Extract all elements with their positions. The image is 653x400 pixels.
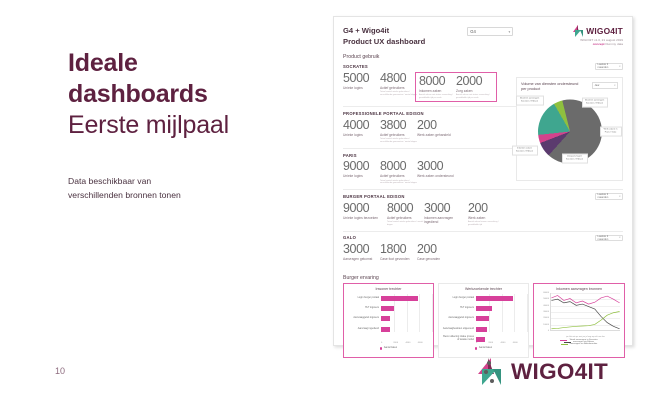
- kpi-caption: Actief gebruikers: [380, 86, 417, 90]
- kpi-period-value: Laatste 3 maanden: [598, 235, 620, 241]
- chevron-down-icon: ▾: [619, 65, 620, 68]
- kpi-footnote: Totaal aantal unieke gebruikers / versch…: [380, 180, 417, 185]
- kpi-value: 1800: [380, 243, 417, 256]
- y-tick-label: 30000: [537, 311, 549, 313]
- kpi-caption: Aanvragen gekomst: [343, 257, 380, 261]
- slide-text-block: Ideale dashboards Eerste mijlpaal Data b…: [68, 48, 308, 202]
- kpi-caption: Unieke logins: [343, 86, 380, 90]
- kpi-metric: 3000Inkomen aanvragen ingediend: [424, 202, 468, 227]
- highlighted-kpi-box: 8000Inkomen zakenAantal zaken met status…: [415, 72, 497, 103]
- gridline: [432, 294, 433, 332]
- legend-line-swatch: [560, 340, 567, 341]
- kpi-metric: 8000Actief gebruikersTotaal aantal uniek…: [380, 160, 417, 185]
- bar-fill: [381, 316, 390, 321]
- bar-category-label: Aanvraag ingediend: [347, 328, 381, 331]
- chart-title: Werkzoekende trechter: [442, 287, 525, 291]
- kpi-group-header: BURGER PORTAAL EDISONLaatste 3 maanden▾: [343, 193, 623, 200]
- bar-row: Aanvraaggeluit logovers: [347, 314, 430, 323]
- x-tick-label: 0: [381, 342, 393, 344]
- kpi-value: 8000: [380, 160, 417, 173]
- kpi-footnote: Totaal aantal unieke gebruikers / versch…: [380, 91, 417, 96]
- legend-swatch: [380, 347, 383, 350]
- kpi-value: 200: [417, 243, 454, 256]
- dashboard-panel: G4 + Wigo4it Product UX dashboard G4 ▾ W…: [333, 16, 633, 346]
- bar-row: HvT logovers: [347, 304, 430, 313]
- kpi-group-label: PARIS: [343, 153, 357, 158]
- kpi-value: 200: [417, 119, 461, 132]
- bar-row: HvT logovers: [442, 304, 525, 313]
- bar-track: [381, 306, 430, 311]
- kpi-metric: 200Case gevonden: [417, 243, 454, 261]
- bar-chart-plot: Login burger portaalHvT logoversAanvraag…: [347, 294, 430, 341]
- y-tick-label: 40000: [537, 305, 549, 307]
- bar-track: [381, 327, 430, 332]
- kpi-group: GALOLaatste 3 maanden▾3000Aanvragen geko…: [343, 235, 623, 266]
- chart-legend: Aantal zaken: [347, 347, 430, 350]
- bar-row: Login burger portaal: [442, 294, 525, 303]
- kpi-value: 3000: [343, 243, 380, 256]
- footer-wordmark: WIGO4IT: [511, 359, 608, 385]
- kpi-metric: 9000Unieke logins: [343, 160, 380, 185]
- kpi-metric: 200Werk zakenAantal zaken binnen verwerk…: [468, 202, 505, 227]
- bar-category-label: HvT logovers: [347, 307, 381, 310]
- kpi-caption: Werk zaken ondersteund: [417, 174, 461, 178]
- kpi-metric: 4800Actief gebruikersTotaal aantal uniek…: [380, 72, 417, 103]
- line-chart-legend: Totaal aanvragen in Socratesaanvragen vi…: [537, 339, 621, 345]
- kpi-metric: 4000Unieke logins: [343, 119, 380, 144]
- body-copy-line1: Data beschikbaar van: [68, 175, 308, 188]
- bar-fill: [476, 306, 492, 311]
- bar-row: Aanvraaggeluit logovers: [442, 314, 525, 323]
- kpi-value: 8000: [419, 75, 456, 88]
- scope-select-value: G4: [470, 29, 476, 34]
- bar-track: [476, 327, 525, 332]
- bar-category-label: HvT logovers: [442, 307, 476, 310]
- kpi-caption: Inkomen zaken: [419, 89, 456, 93]
- line-series: [551, 299, 619, 329]
- kpi-period-value: Laatste 3 maanden: [598, 63, 620, 69]
- kpi-value: 8000: [387, 202, 424, 215]
- line-chart-plot: 6000050000400003000020000100000jan feb m…: [537, 293, 621, 338]
- chevron-down-icon: ▾: [619, 195, 620, 198]
- kpi-caption: Actief gebruikers: [380, 174, 417, 178]
- kpi-value: 3000: [417, 160, 461, 173]
- pie-chart-card: Volume van diensten ondersteund per prod…: [516, 77, 623, 181]
- y-tick-label: 0: [537, 330, 549, 332]
- kpi-value: 5000: [343, 72, 380, 85]
- footer-brand-logo: WIGO4IT: [478, 358, 608, 385]
- bar-fill: [381, 327, 390, 332]
- dashboard-header: G4 + Wigo4it Product UX dashboard G4 ▾ W…: [343, 25, 623, 47]
- pie-label: Inkomen aanvragen Socrates / Edison: [516, 96, 544, 106]
- dashboard-title: G4 + Wigo4it Product UX dashboard: [343, 25, 425, 47]
- bar-track: [476, 306, 525, 311]
- kpi-value: 200: [468, 202, 505, 215]
- line-series-svg: [551, 293, 620, 330]
- pie-label: Inkomen aanvragen Socrates / Edison: [582, 98, 608, 108]
- y-tick-label: 10000: [537, 324, 549, 326]
- pie-chart-title: Volume van diensten ondersteund per prod…: [521, 82, 583, 93]
- y-tick-label: 60000: [537, 292, 549, 294]
- bar-track: [476, 316, 525, 321]
- kpi-metric: 1800Case foot gevonden: [380, 243, 417, 261]
- kpi-caption: Unieke logins: [343, 133, 380, 137]
- kpi-row: 3000Aanvragen gekomst1800Case foot gevon…: [343, 243, 623, 261]
- kpi-group-label: BURGER PORTAAL EDISON: [343, 194, 405, 199]
- bar-track: [381, 296, 430, 301]
- kpi-period-value: Laatste 3 maanden: [598, 193, 620, 199]
- wigo4it-logo-icon-small: [573, 25, 584, 36]
- dashboard-title-line2: Product UX dashboard: [343, 36, 425, 47]
- bar-fill: [476, 316, 489, 321]
- kpi-footnote: Aantal zaken met status verwerking / gem…: [456, 94, 493, 99]
- legend-label: aanvragen via Balieformulier: [570, 343, 598, 345]
- bar-category-label: Aanvraaggeluit logovers: [347, 317, 381, 320]
- kpi-caption: Zorg zaken: [456, 89, 493, 93]
- chevron-down-icon: ▾: [619, 236, 620, 239]
- kpi-row: 9000Unieke logins bezoeken8000Actief geb…: [343, 202, 623, 227]
- kpi-caption: Case gevonden: [417, 257, 454, 261]
- kpi-group-label: GALO: [343, 235, 356, 240]
- dashboard-version-text: WIGO4IT v1.0, 21 august 2019: [573, 38, 623, 42]
- dummy-data-flag: Dummy data: [605, 42, 623, 46]
- page-title-line1: Ideale: [68, 48, 308, 79]
- slide-canvas: Ideale dashboards Eerste mijlpaal Data b…: [0, 0, 653, 400]
- dashboard-brand: WIGO4IT WIGO4IT v1.0, 21 august 2019 con…: [573, 25, 623, 46]
- gridline: [527, 294, 528, 332]
- chevron-down-icon: ▾: [508, 30, 510, 34]
- kpi-value: 4800: [380, 72, 417, 85]
- page-number: 10: [55, 366, 65, 376]
- section-caption-experience: Burger ervaring: [343, 275, 379, 281]
- body-copy-line2: verschillenden bronnen tonen: [68, 189, 308, 202]
- legend-line-swatch: [561, 344, 568, 345]
- x-tick-label: 6000: [418, 342, 430, 344]
- concept-flag: concept: [593, 42, 605, 46]
- pie-label: Werk zaken in Paris / Galo: [600, 127, 622, 137]
- kpi-value: 9000: [343, 202, 387, 215]
- x-axis-ticks: 0200040006000: [381, 342, 430, 344]
- bar-fill: [476, 337, 485, 342]
- bar-row: Bezet uitkering intake proces of taxatie…: [442, 335, 525, 344]
- kpi-caption: Actief gebruikers: [380, 133, 417, 137]
- bar-category-label: Aanvraaggeluit logovers: [442, 317, 476, 320]
- bar-row: Aanvraagbesloten uitgevoerd: [442, 325, 525, 334]
- kpi-metric: 3000Werk zaken ondersteund: [417, 160, 461, 185]
- bar-category-label: Login burger portaal: [442, 297, 476, 300]
- dashboard-title-line1: G4 + Wigo4it: [343, 25, 425, 36]
- body-copy: Data beschikbaar van verschillenden bron…: [68, 175, 308, 202]
- legend-row: aanvragen via Balieformulier: [537, 343, 621, 345]
- kpi-caption: Case foot gevonden: [380, 257, 417, 261]
- kpi-footnote: Aantal zaken binnen verwerking / gemidde…: [468, 221, 505, 226]
- chart-title: Inkomen aanvragen bronnen: [537, 287, 621, 291]
- kpi-period-select[interactable]: Laatste 3 maanden▾: [595, 193, 623, 200]
- kpi-footnote: Totaal aantal unieke gebruikers / aantal…: [387, 221, 424, 226]
- section-caption-usage: Product gebruik: [343, 54, 623, 60]
- line-series: [551, 312, 619, 329]
- chart-card-income-sources: Inkomen aanvragen bronnen 60000500004000…: [533, 283, 625, 358]
- bar-fill: [381, 306, 394, 311]
- bar-fill: [476, 296, 513, 301]
- y-tick-label: 20000: [537, 317, 549, 319]
- kpi-metric: 8000Actief gebruikersTotaal aantal uniek…: [387, 202, 424, 227]
- kpi-metric: 3800Actief gebruikersTotaal aantal uniek…: [380, 119, 417, 144]
- pie-period-value: Jaar: [595, 84, 600, 87]
- kpi-value: 4000: [343, 119, 380, 132]
- kpi-metric: 5000Unieke logins: [343, 72, 380, 103]
- bar-category-label: Bezet uitkering intake proces of taxatie…: [442, 336, 476, 342]
- dashboard-wordmark: WIGO4IT: [586, 26, 623, 36]
- kpi-caption: Actief gebruikers: [387, 216, 424, 220]
- kpi-caption: Werk zaken gehandeld: [417, 133, 461, 137]
- chart-legend: Aantal zaken: [442, 347, 525, 350]
- chart-card-inwoner-funnel: Inwoner trechter Login burger portaalHvT…: [343, 283, 434, 358]
- kpi-metric: 9000Unieke logins bezoeken: [343, 202, 387, 227]
- kpi-value: 2000: [456, 75, 493, 88]
- bar-fill: [381, 296, 418, 301]
- bar-category-label: Aanvraagbesloten uitgevoerd: [442, 328, 476, 331]
- pie-label: Zorgaanvragen Socrates / Edison: [562, 154, 588, 164]
- pie-period-select[interactable]: Jaar ▾: [592, 82, 618, 89]
- legend-swatch: [475, 347, 478, 350]
- kpi-caption: Unieke logins bezoeken: [343, 216, 387, 220]
- kpi-period-select[interactable]: Laatste 3 maanden▾: [595, 63, 623, 70]
- page-title-line2: dashboards: [68, 79, 308, 110]
- kpi-group-label: PROFESSIONELE PORTAAL EDISON: [343, 111, 424, 116]
- bar-chart-plot: Login burger portaalHvT logoversAanvraag…: [442, 294, 525, 341]
- kpi-value: 3800: [380, 119, 417, 132]
- bar-category-label: Login burger portaal: [347, 297, 381, 300]
- bar-row: Login burger portaal: [347, 294, 430, 303]
- kpi-metric: 200Werk zaken gehandeld: [417, 119, 461, 144]
- kpi-group-header: GALOLaatste 3 maanden▾: [343, 235, 623, 242]
- kpi-metric: 2000Zorg zakenAantal zaken met status ve…: [456, 75, 493, 100]
- kpi-metric: 8000Inkomen zakenAantal zaken met status…: [419, 75, 456, 100]
- page-subtitle: Eerste mijlpaal: [68, 110, 308, 141]
- pie-label: Inkomen zaken Socrates / Edison: [512, 146, 538, 156]
- bar-row: Aanvraag ingediend: [347, 325, 430, 334]
- wigo4it-logo-icon: [478, 358, 504, 385]
- kpi-period-select[interactable]: Laatste 3 maanden▾: [595, 235, 623, 242]
- kpi-caption: Werk zaken: [468, 216, 505, 220]
- kpi-value: 3000: [424, 202, 468, 215]
- x-tick-label: 4000: [406, 342, 418, 344]
- kpi-footnote: Totaal aantal unieke gebruikers / versch…: [380, 138, 417, 143]
- kpi-group: BURGER PORTAAL EDISONLaatste 3 maanden▾9…: [343, 193, 623, 231]
- line-series: [551, 295, 619, 304]
- chart-title: Inwoner trechter: [347, 287, 430, 291]
- x-axis-tick-labels: jan feb mrt apr mei jun jul aug sep okt …: [550, 336, 621, 338]
- pie-chart-graphic: Inkomen aanvragen Socrates / Edison Inko…: [538, 100, 602, 164]
- bar-fill: [476, 327, 487, 332]
- kpi-group-label: SOCRATES: [343, 64, 368, 69]
- chevron-down-icon: ▾: [614, 84, 615, 87]
- kpi-caption: Unieke logins: [343, 174, 380, 178]
- bar-track: [381, 316, 430, 321]
- chart-card-werkzoekende-funnel: Werkzoekende trechter Login burger porta…: [438, 283, 529, 358]
- scope-select[interactable]: G4 ▾: [467, 27, 513, 36]
- kpi-metric: 3000Aanvragen gekomst: [343, 243, 380, 261]
- legend-label: Aantal zaken: [384, 347, 397, 349]
- y-tick-label: 50000: [537, 298, 549, 300]
- kpi-group-header: SOCRATESLaatste 3 maanden▾: [343, 63, 623, 70]
- bar-track: [476, 296, 525, 301]
- x-tick-label: 2000: [393, 342, 405, 344]
- kpi-value: 9000: [343, 160, 380, 173]
- kpi-caption: Inkomen aanvragen ingediend: [424, 216, 468, 225]
- kpi-footnote: Aantal zaken met status verwerking / gem…: [419, 94, 456, 99]
- dashboard-concept-text: concept Dummy data: [573, 42, 623, 46]
- bar-track: [476, 337, 525, 342]
- legend-label: Aantal zaken: [479, 347, 492, 349]
- line-plot-area: [550, 293, 620, 331]
